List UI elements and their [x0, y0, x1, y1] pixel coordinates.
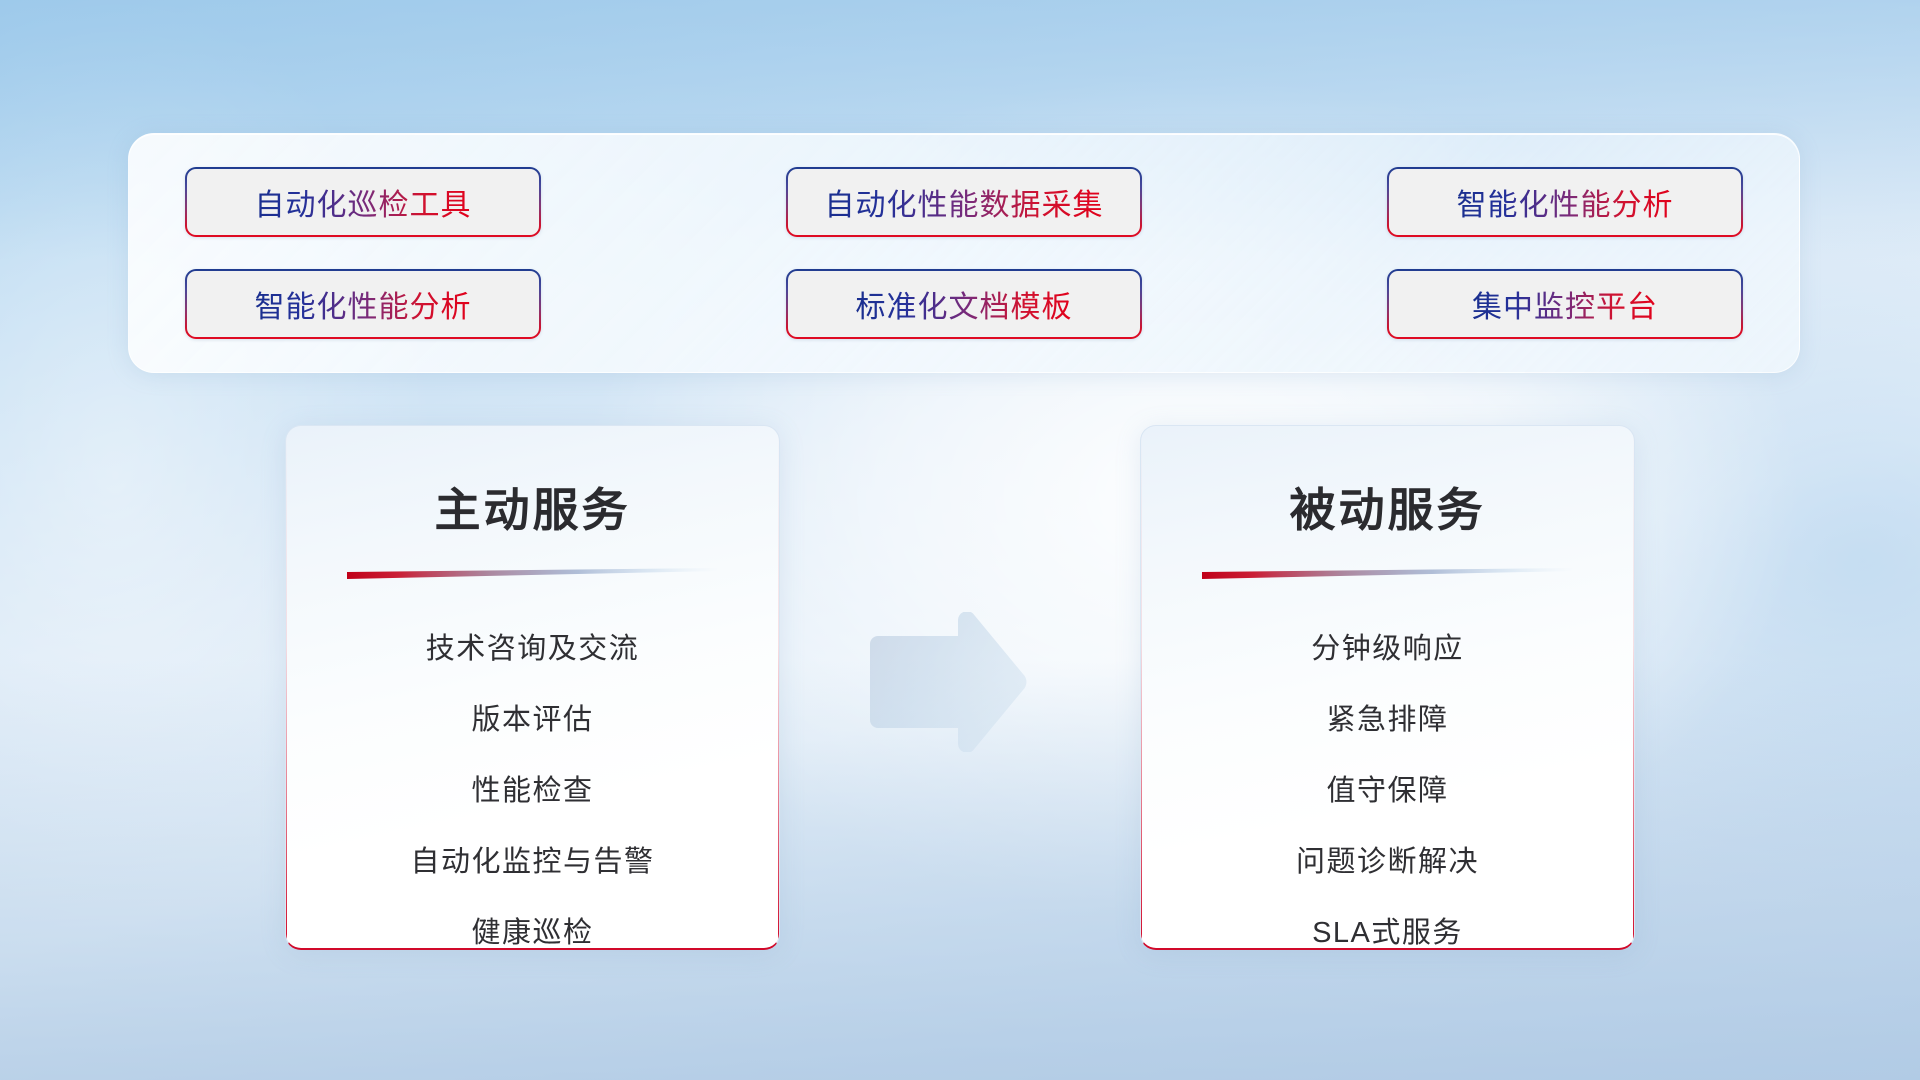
capability-pill-inner: 智能化性能分析 [187, 271, 539, 337]
capability-pill-automated-performance-data-collection[interactable]: 自动化性能数据采集 [786, 167, 1142, 237]
service-card-item-list: 分钟级响应 紧急排障 值守保障 问题诊断解决 SLA式服务 [1141, 614, 1634, 950]
capability-pill-intelligent-performance-analysis-bottom[interactable]: 智能化性能分析 [185, 269, 541, 339]
capability-pill-standardized-document-template[interactable]: 标准化文档模板 [786, 269, 1142, 339]
capability-pill-label: 智能化性能分析 [1457, 180, 1674, 224]
capability-pill-inner: 自动化性能数据采集 [788, 169, 1140, 235]
capabilities-row-1: 自动化巡检工具 自动化性能数据采集 智能化性能分析 [185, 167, 1743, 237]
service-list-item: 性能检查 [286, 756, 779, 827]
title-divider-wedge [1202, 568, 1574, 580]
capability-pill-label: 智能化性能分析 [255, 282, 472, 326]
arrow-right-icon [862, 612, 1032, 752]
service-list-item: 健康巡检 [286, 898, 779, 950]
service-list-item: 版本评估 [286, 685, 779, 756]
service-list-item: 自动化监控与告警 [286, 827, 779, 898]
capability-pill-inner: 自动化巡检工具 [187, 169, 539, 235]
capability-pill-inner: 标准化文档模板 [788, 271, 1140, 337]
capability-pill-inner: 智能化性能分析 [1389, 169, 1741, 235]
capability-pill-label: 集中监控平台 [1472, 282, 1658, 326]
capability-pill-intelligent-performance-analysis-top[interactable]: 智能化性能分析 [1387, 167, 1743, 237]
capability-pill-label: 自动化巡检工具 [255, 180, 472, 224]
service-card-title: 主动服务 [286, 474, 779, 540]
capabilities-panel: 自动化巡检工具 自动化性能数据采集 智能化性能分析 智能化性能分析 标准化文档模… [128, 133, 1800, 373]
service-list-item: 值守保障 [1141, 756, 1634, 827]
capability-pill-label: 标准化文档模板 [856, 282, 1073, 326]
service-list-item: 问题诊断解决 [1141, 827, 1634, 898]
service-card-title: 被动服务 [1141, 474, 1634, 540]
service-card-reactive: 被动服务 分钟级响应 紧急排障 值守保障 [1140, 425, 1635, 950]
capability-pill-inner: 集中监控平台 [1389, 271, 1741, 337]
service-card-proactive: 主动服务 技术咨询及交流 版本评估 性能检查 [285, 425, 780, 950]
title-divider-wedge [347, 568, 719, 580]
service-list-item: SLA式服务 [1141, 898, 1634, 950]
capabilities-row-2: 智能化性能分析 标准化文档模板 集中监控平台 [185, 269, 1743, 339]
service-list-item: 技术咨询及交流 [286, 614, 779, 685]
capability-pill-label: 自动化性能数据采集 [825, 180, 1104, 224]
capability-pill-centralized-monitoring-platform[interactable]: 集中监控平台 [1387, 269, 1743, 339]
service-list-item: 紧急排障 [1141, 685, 1634, 756]
service-card-item-list: 技术咨询及交流 版本评估 性能检查 自动化监控与告警 健康巡检 [286, 614, 779, 950]
service-list-item: 分钟级响应 [1141, 614, 1634, 685]
capability-pill-automated-inspection-tool[interactable]: 自动化巡检工具 [185, 167, 541, 237]
